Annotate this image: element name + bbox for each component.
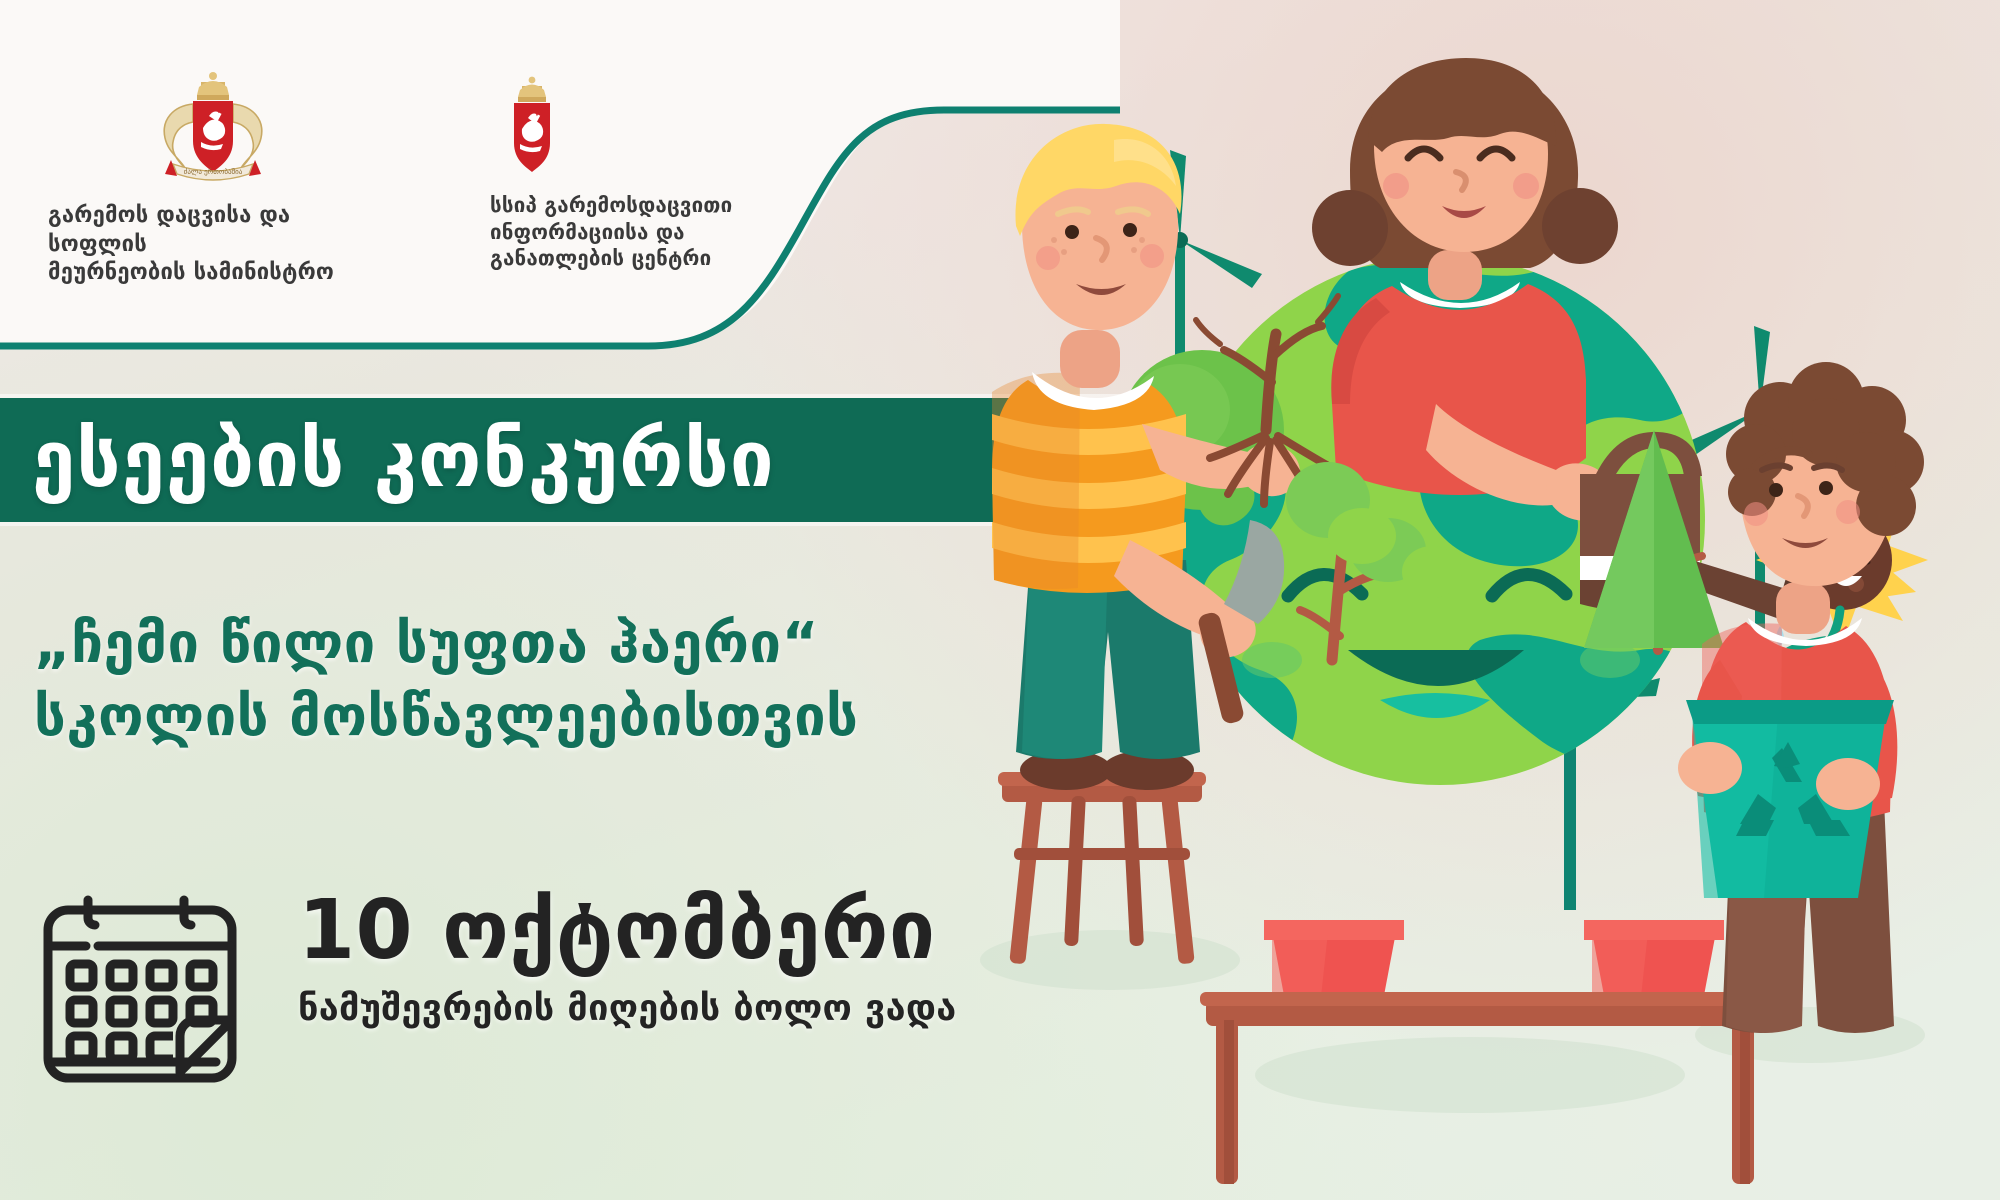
ministry-logo: ძალა ერთობაშია გარემოს დაცვისა და სოფლის… [48,68,378,288]
center-logo-line3: განათლების ცენტრი [490,245,830,272]
table-shadow [1255,1037,1685,1113]
ministry-logo-line2: მეურნეობის სამინისტრო [48,259,378,288]
children-planting-earth-illustration [880,0,2000,1200]
center-logo: სსიპ გარემოსდაცვითი ინფორმაციისა და განა… [490,72,830,272]
ministry-logo-line1: გარემოს დაცვისა და სოფლის [48,202,378,259]
center-logo-line1: სსიპ გარემოსდაცვითი [490,192,830,219]
center-logo-line2: ინფორმაციისა და [490,219,830,246]
logo-row: ძალა ერთობაშია გარემოს დაცვისა და სოფლის… [0,0,900,300]
svg-text:ძალა ერთობაშია: ძალა ერთობაშია [184,167,243,176]
center-logo-text: სსიპ გარემოსდაცვითი ინფორმაციისა და განა… [490,192,830,272]
ministry-logo-text: გარემოს დაცვისა და სოფლის მეურნეობის სამ… [48,202,378,288]
subtitle-line1: „ჩემი წილი სუფთა ჰაერი“ [34,611,819,676]
calendar-icon [36,894,246,1094]
georgia-small-coat-of-arms-icon [496,72,568,182]
poster-root: ძალა ერთობაშია გარემოს დაცვისა და სოფლის… [0,0,2000,1200]
georgia-coat-of-arms-icon: ძალა ერთობაშია [149,68,277,188]
page-title: ესეების კონკურსი [0,421,775,499]
